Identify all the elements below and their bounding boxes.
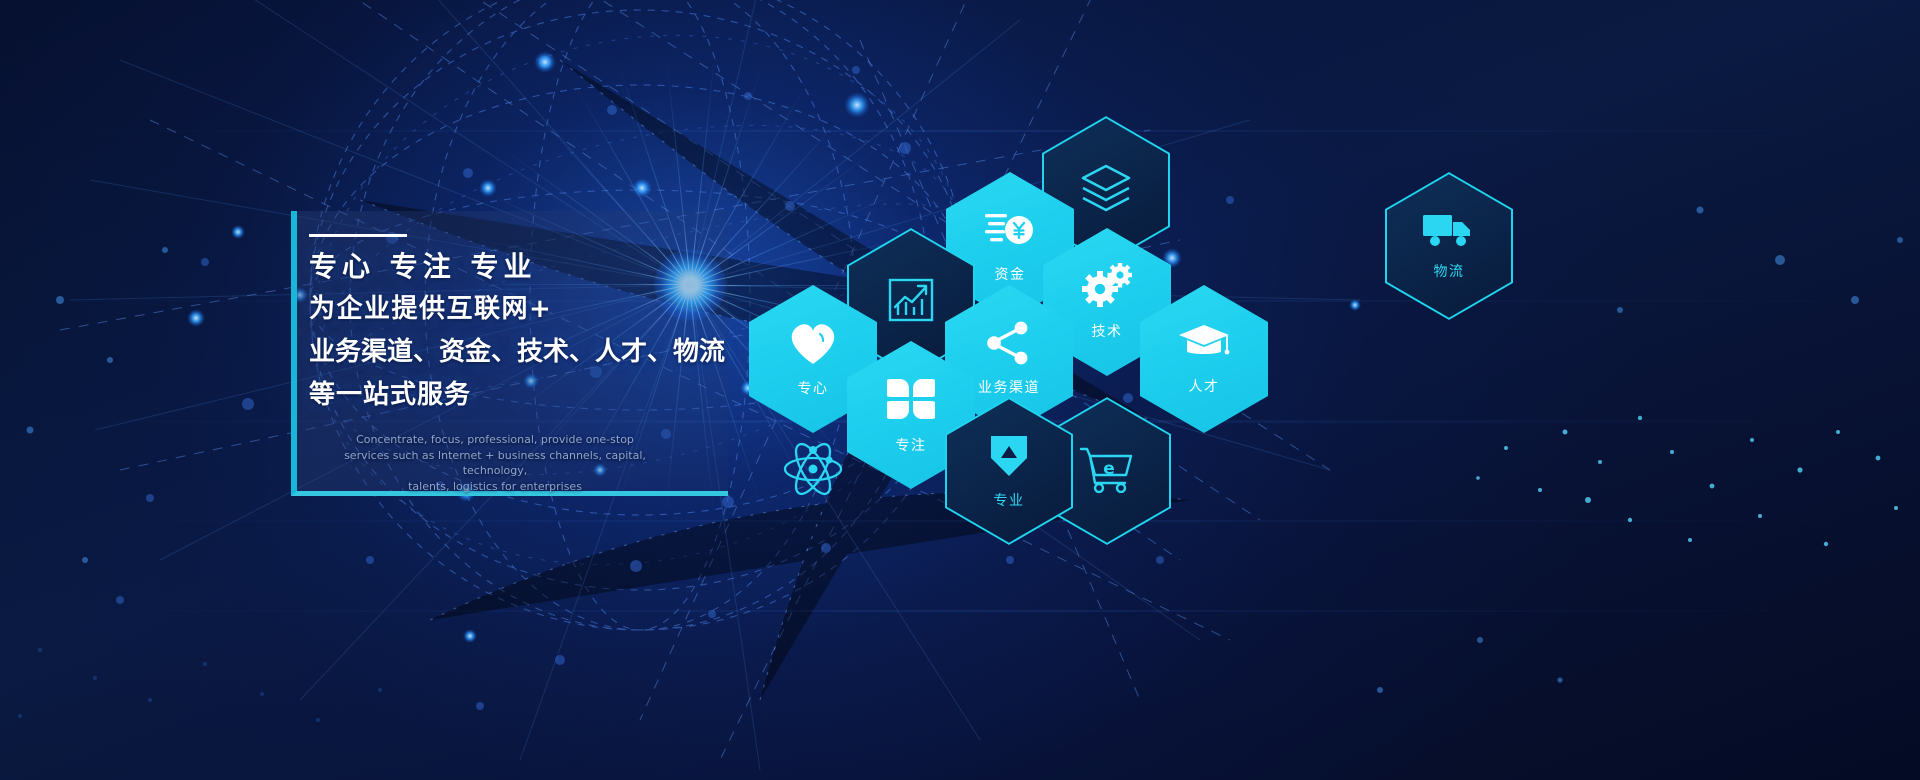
layers-icon (1079, 162, 1133, 219)
diamond-icon (987, 432, 1031, 483)
hex-logistics[interactable]: 物流 (1385, 172, 1513, 320)
clover-icon (887, 375, 935, 428)
hex-channels-label: 业务渠道 (978, 377, 1040, 397)
hex-talents-label: 人才 (1189, 376, 1220, 396)
hex-focus-label: 专注 (896, 435, 927, 455)
hex-funds-label: 资金 (995, 264, 1026, 284)
shopping-cart-e-icon: e (1079, 445, 1135, 498)
hexagon-cluster: 资金 物流 (0, 0, 1920, 780)
yen-coin-icon (985, 208, 1035, 257)
svg-text:e: e (1103, 459, 1115, 479)
share-nodes-icon (985, 321, 1033, 370)
growth-chart-icon (887, 275, 935, 330)
banner-root: 专心 专注 专业 为企业提供互联网+ 业务渠道、资金、技术、人才、物流 等一站式… (0, 0, 1920, 780)
graduation-cap-icon (1177, 322, 1231, 369)
heart-icon (787, 320, 839, 371)
hex-focusheart-label: 专心 (798, 378, 829, 398)
hex-pro-label: 专业 (994, 490, 1025, 510)
hex-logistics-label: 物流 (1434, 261, 1465, 281)
truck-icon (1422, 211, 1476, 254)
gears-icon (1082, 263, 1132, 314)
atom-icon (782, 440, 844, 503)
hex-tech-label: 技术 (1092, 321, 1123, 341)
